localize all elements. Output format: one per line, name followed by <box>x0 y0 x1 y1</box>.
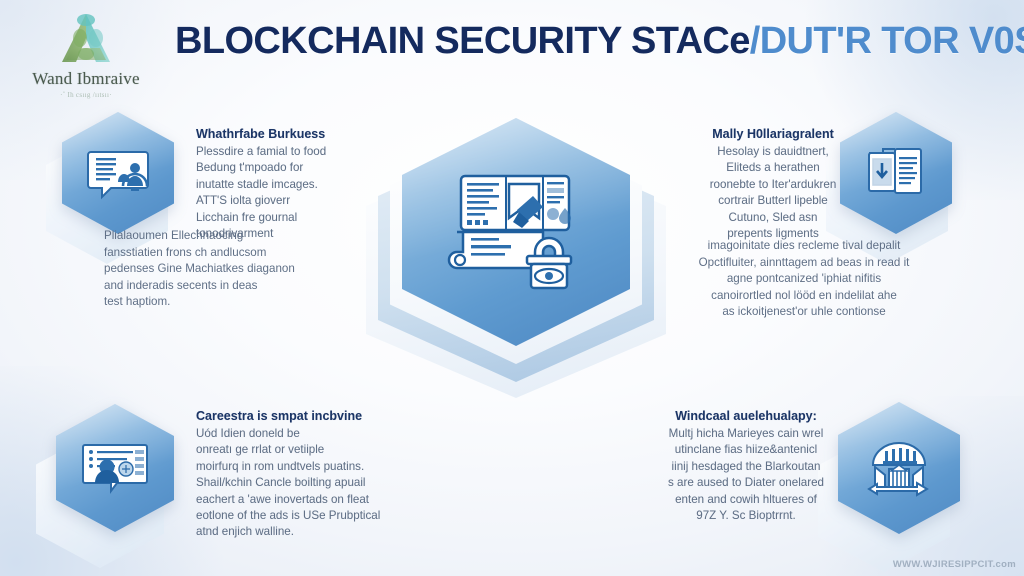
body-line: Multj hicha Marieyes cain wrel <box>620 426 872 442</box>
body-line: inutatte stadle imcages. <box>196 177 374 193</box>
triangle-leaf-logo-icon <box>36 8 136 68</box>
logo-tagline: ·˚ Ih csııg /ııtsıı· <box>6 91 166 99</box>
body-line: Shail/kchin Cancle boilting аpuail <box>196 475 446 491</box>
body-line: moirfurq in rom undtvels puatins. <box>196 459 446 475</box>
body-line: agne pontcanized 'iphiat nifitis <box>654 271 954 288</box>
body-line: iinij hesdaged the Blarkoutan <box>620 459 872 475</box>
body-line: s are aused to Diater onelared <box>620 475 872 491</box>
section-top-right: Mally H0llariagralent Hesolay is dauidtn… <box>688 126 858 242</box>
infographic-canvas: Wand Ibmraive ·˚ Ih csııg /ııtsıı· BLOCK… <box>0 0 1024 576</box>
section-body: Hesolay is dauidtnert, Eliteds a herathe… <box>688 144 858 242</box>
section-top-right-continued: imagoinitate dies recleme tival depalit … <box>654 238 954 321</box>
body-line: Plialaoumen Ellechhaocing <box>104 228 396 245</box>
page-title-primary: BLOCKCHAIN SECURITY STACe <box>175 20 750 62</box>
body-line: Eliteds a herathen <box>688 160 858 176</box>
body-line: utinclane fias hiize&antenicl <box>620 442 872 458</box>
section-top-left: Whathrfabe Burkuess Plessdire a famial t… <box>196 126 374 242</box>
body-line: cortrair Butterl lipeble <box>688 193 858 209</box>
body-line: and inderadis secents in deas <box>104 278 396 295</box>
section-bottom-right: Windcaal auelehualapy: Multj hicha Marie… <box>620 408 872 524</box>
document-contract-with-lock-icon <box>402 118 630 346</box>
section-bottom-left: Careestra is smpat incbvine Uód Idien do… <box>196 408 446 541</box>
body-line: fansstiatien frons ch andlucsom <box>104 245 396 262</box>
hexagon-badge-top-left[interactable] <box>62 112 174 234</box>
section-heading: Careestra is smpat incbvine <box>196 408 446 424</box>
body-line: Uód Idien doneld be <box>196 426 446 442</box>
body-line: Hesolay is dauidtnert, <box>688 144 858 160</box>
hexagon-badge-bottom-left[interactable] <box>56 404 174 532</box>
body-line: imagoinitate dies recleme tival depalit <box>654 238 954 255</box>
body-line: enten and cowih hltueres of <box>620 492 872 508</box>
body-line: onreatı ge rrlat or vetiiple <box>196 442 446 458</box>
body-line: Plessdire a famial to food <box>196 144 374 160</box>
page-title-secondary: /DUT'R TOR V0ST7) <box>750 20 1024 62</box>
section-body: Multj hicha Marieyes cain wrel utinclane… <box>620 426 872 524</box>
body-line: atnd enjich walline. <box>196 524 446 540</box>
center-hexagon-stack <box>366 118 666 398</box>
body-line: Licchain fre gournal <box>196 210 374 226</box>
brand-logo: Wand Ibmraive ·˚ Ih csııg /ııtsıı· <box>6 8 166 104</box>
section-heading: Whathrfabe Burkuess <box>196 126 374 142</box>
profile-card-person-icon <box>56 404 174 532</box>
section-heading: Mally H0llariagralent <box>688 126 858 142</box>
body-line: test haptiom. <box>104 294 396 311</box>
logo-name: Wand Ibmraive <box>6 69 166 89</box>
page-title: BLOCKCHAIN SECURITY STACe/DUT'R TOR V0ST… <box>175 14 965 68</box>
section-top-left-continued: Plialaoumen Ellechhaocing fansstiatien f… <box>104 228 396 311</box>
body-line: Cutuno, Sled asn <box>688 210 858 226</box>
body-line: as ickoitjenest'or uhle contionse <box>654 304 954 321</box>
body-line: roonebte to Iter'ardukren <box>688 177 858 193</box>
body-line: Opctifluiter, ainnttagem ad beas in read… <box>654 255 954 272</box>
body-line: pedenses Gine Machiatkes diaganon <box>104 261 396 278</box>
body-line: ATT'S iolta gioverr <box>196 193 374 209</box>
speech-bubble-two-people-icon <box>62 112 174 234</box>
body-line: 97Z Y. Sc Bioptrrnt. <box>620 508 872 524</box>
section-heading: Windcaal auelehualapy: <box>620 408 872 424</box>
body-line: eotlone of the ads is USe Prubptical <box>196 508 446 524</box>
body-line: Bedung t'mpoado for <box>196 160 374 176</box>
body-line: eachert a 'awe inovertads on fleat <box>196 492 446 508</box>
body-line: canoirortled nol lööd en indelilat ahe <box>654 288 954 305</box>
site-watermark: WWW.WJIRESIPPCIT.com <box>893 559 1016 570</box>
section-body: Uód Idien doneld be onreatı ge rrlat or … <box>196 426 446 541</box>
